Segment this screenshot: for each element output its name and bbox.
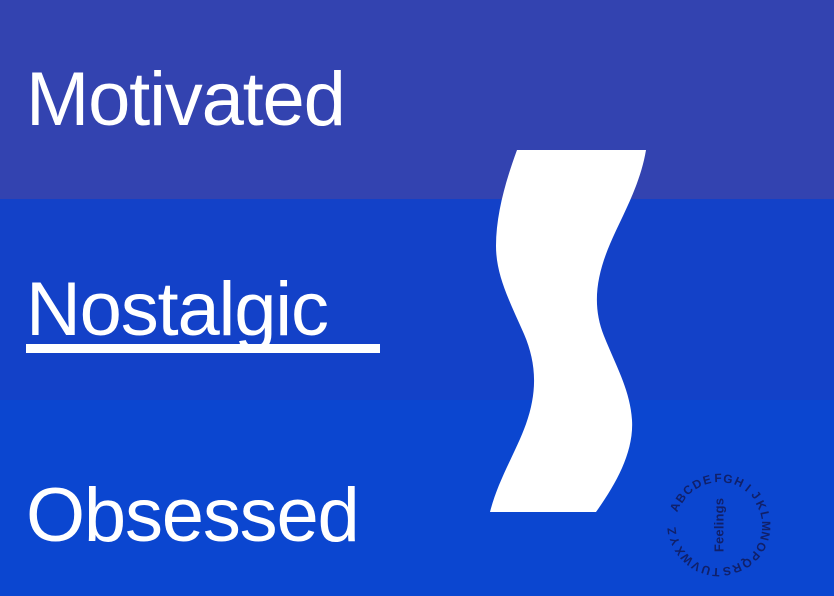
badge-ring-letter-glyph: K xyxy=(754,498,769,511)
badge-ring-letter-glyph: H xyxy=(732,475,745,490)
badge-ring-letter-glyph: L xyxy=(758,510,771,520)
word-obsessed: Obsessed xyxy=(26,478,359,554)
badge-ring-letter-glyph: U xyxy=(700,563,712,577)
word-motivated: Motivated xyxy=(26,62,345,138)
wavy-s-ribbon-shape xyxy=(470,140,670,530)
poster-canvas: Motivated Nostalgic Obsessed ABCDEFGHIJK… xyxy=(0,0,834,596)
word-nostalgic-underline xyxy=(26,344,380,353)
badge-ring-letter-glyph: I xyxy=(743,482,753,494)
badge-ring-letter-glyph: Z xyxy=(666,527,679,536)
feelings-circular-badge: ABCDEFGHIJKLMNOPQRSTUVWXYZ Feelings xyxy=(660,466,778,584)
word-nostalgic: Nostalgic xyxy=(26,272,328,348)
badge-ring-letter-glyph: M xyxy=(760,521,772,531)
badge-center-label: Feelings xyxy=(713,498,726,552)
badge-ring-letter-glyph: T xyxy=(712,566,720,578)
badge-ring-letter-glyph: F xyxy=(714,472,722,484)
